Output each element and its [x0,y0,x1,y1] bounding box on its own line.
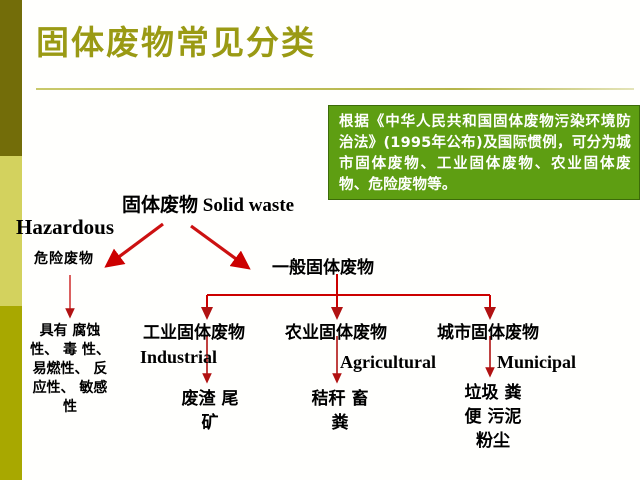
node-root-cn: 固体废物 [122,194,198,216]
node-industrial-en: Industrial [140,347,217,368]
node-agricultural-cn: 农业固体废物 [285,318,387,343]
node-hazardous-properties: 具有 腐蚀性、 毒 性、 易燃性、 反应性、 敏感性 [30,322,110,417]
node-agricultural-en: Agricultural [340,352,436,373]
node-industrial-examples: 废渣 尾矿 [180,387,240,435]
node-hazardous-en: Hazardous [16,215,114,240]
sidebar-bar-top [0,0,22,156]
node-municipal-examples: 垃圾 粪便 污泥 粉尘 [463,381,523,453]
node-root-en: Solid waste [198,195,294,216]
node-general-waste: 一般固体废物 [272,253,374,278]
title-divider [36,88,634,90]
slide-title: 固体废物常见分类 [36,16,316,64]
arrow-root-to-hazardous [112,224,163,262]
node-municipal-en: Municipal [497,352,576,373]
node-municipal-cn: 城市固体废物 [437,318,539,343]
node-industrial-cn: 工业固体废物 [143,318,245,343]
sidebar-bar-bottom [0,306,22,480]
note-box: 根据《中华人民共和国固体废物污染环境防治法》(1995年公布)及国际惯例，可分为… [328,105,640,200]
slide-canvas: 固体废物常见分类 根据《中华人民共和国固体废物污染环境防治法》(1995年公布)… [0,0,640,480]
node-root: 固体废物 Solid waste [122,190,294,217]
node-agricultural-examples: 秸秆 畜粪 [310,387,370,435]
node-hazardous-cn: 危险废物 [34,248,94,268]
note-text: 根据《中华人民共和国固体废物污染环境防治法》(1995年公布)及国际惯例，可分为… [339,112,631,196]
arrow-root-to-general [191,226,243,264]
